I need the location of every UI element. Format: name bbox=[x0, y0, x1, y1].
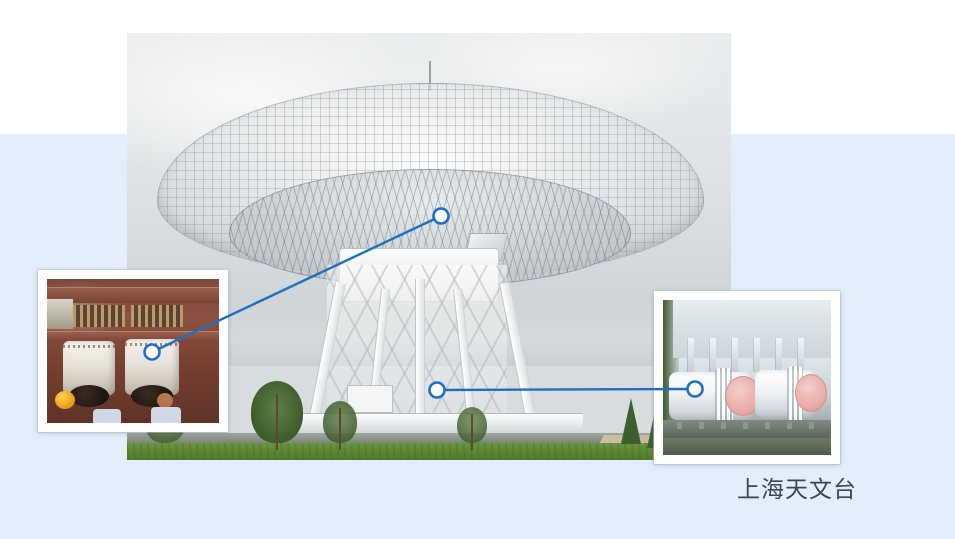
inset-left bbox=[38, 270, 228, 432]
rail-bolt bbox=[677, 422, 682, 429]
rail-bolt bbox=[721, 422, 726, 429]
worker-torso bbox=[93, 409, 121, 423]
conifer-tree bbox=[621, 398, 641, 444]
drive-end-cap bbox=[795, 374, 827, 412]
structure-body bbox=[673, 300, 831, 358]
inset-right-photo bbox=[663, 300, 831, 455]
bearing-face bbox=[69, 385, 109, 407]
rail-bolt bbox=[699, 422, 704, 429]
tree-trunk bbox=[276, 394, 278, 450]
safety-helmet bbox=[55, 391, 75, 409]
tree-trunk bbox=[339, 408, 341, 450]
control-hut bbox=[347, 385, 393, 413]
lawn bbox=[127, 443, 731, 460]
bearing-bolt-band bbox=[63, 345, 115, 348]
bearing-bolt-band bbox=[125, 343, 179, 346]
ground-shadow bbox=[663, 438, 831, 455]
tower-leg-center bbox=[415, 279, 425, 417]
inset-left-photo bbox=[47, 279, 219, 423]
inset-right bbox=[654, 291, 840, 464]
rail-bolt bbox=[809, 422, 814, 429]
worker-head bbox=[157, 393, 173, 408]
tree-trunk bbox=[471, 414, 473, 450]
bolt-row bbox=[131, 305, 183, 327]
rail-bolt bbox=[765, 422, 770, 429]
steel-block bbox=[47, 299, 73, 329]
structure-fin bbox=[775, 338, 782, 372]
rail-bolt bbox=[743, 422, 748, 429]
bolt-row bbox=[73, 305, 125, 327]
rail-bolt bbox=[787, 422, 792, 429]
presentation-slide: 上海天文台 bbox=[0, 0, 955, 539]
worker-torso bbox=[151, 407, 181, 423]
structure-fin bbox=[753, 338, 760, 372]
structure-fin bbox=[731, 338, 738, 372]
photo-caption: 上海天文台 bbox=[737, 470, 857, 504]
structure-fin bbox=[687, 338, 694, 372]
structure-fin bbox=[709, 338, 716, 372]
